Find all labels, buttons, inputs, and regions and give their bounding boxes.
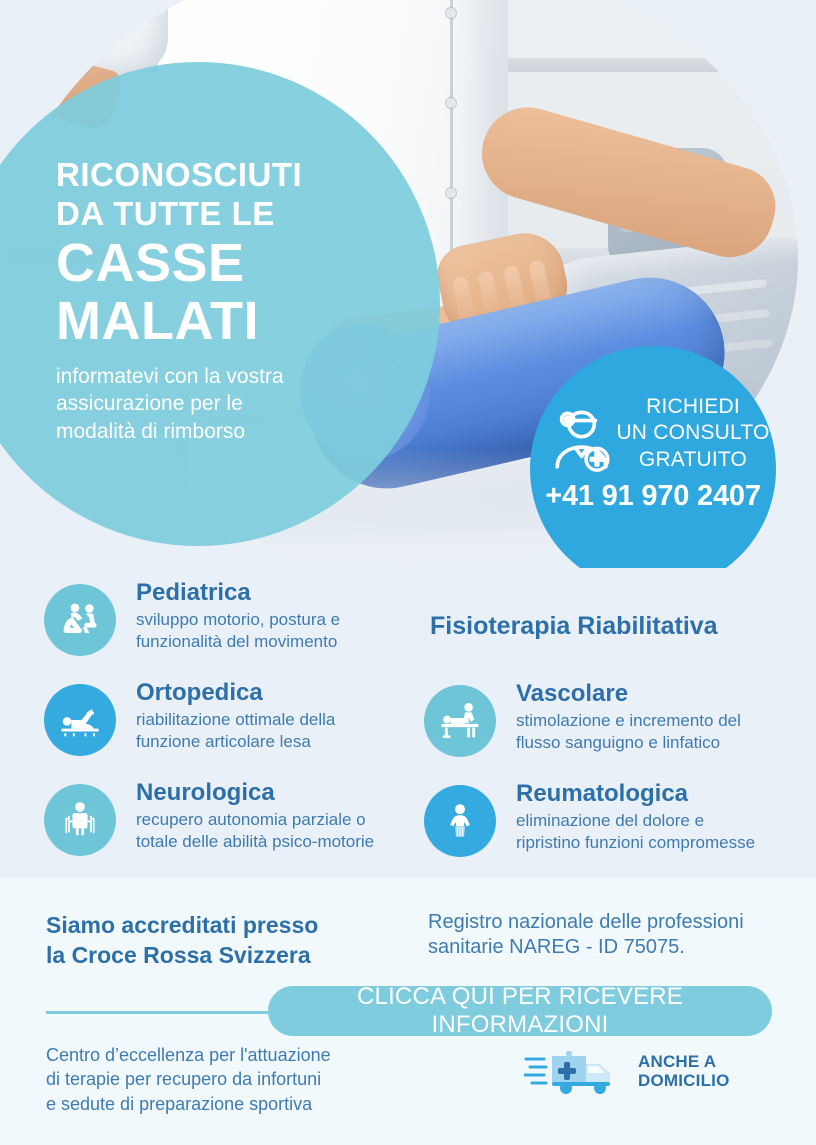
service-desc-line-2: totale delle abilità psico-motorie [136, 831, 414, 852]
service-title: Vascolare [516, 681, 800, 707]
standing-person-glyph [439, 800, 481, 842]
service-title: Neurologica [136, 780, 414, 806]
accreditation-line-2: la Croce Rossa Svizzera [46, 940, 376, 970]
excellence-line-1: Centro d’eccellenza per l'attuazione [46, 1043, 406, 1067]
headline-subtext: informatevi con la vostra assicurazione … [56, 363, 386, 446]
headline-block: RICONOSCIUTI DA TUTTE LE CASSE MALATI in… [56, 156, 386, 446]
headline-subtext-line-1: informatevi con la vostra [56, 363, 386, 391]
excellence-line-2: di terapie per recupero da infortuni [46, 1067, 406, 1091]
standing-person-icon [424, 785, 496, 857]
service-item-vascolare[interactable]: Vascolare stimolazione e incremento del … [424, 681, 800, 777]
consult-phone-number[interactable]: +41 91 970 2407 [530, 480, 776, 513]
service-title: Reumatologica [516, 781, 800, 807]
cta-button[interactable]: CLICCA QUI PER RICEVERE INFORMAZIONI [268, 986, 772, 1036]
headline-line-4: MALATI [56, 292, 386, 350]
service-description: stimolazione e incremento del flusso san… [516, 710, 800, 753]
massage-table-icon [424, 685, 496, 757]
consult-line-1: RICHIEDI [614, 394, 772, 420]
services-left-column: Pediatrica sviluppo motorio, postura e f… [44, 566, 414, 880]
headline-line-3: CASSE [56, 234, 386, 292]
excellence-line-3: e sedute di preparazione sportiva [46, 1092, 406, 1116]
service-item-ortopedica[interactable]: Ortopedica riabilitazione ottimale della… [44, 680, 414, 776]
registry-text: Registro nazionale delle professioni san… [428, 910, 800, 960]
doctor-icon [548, 402, 622, 476]
walker-frame-glyph [58, 798, 102, 842]
services-section: Pediatrica sviluppo motorio, postura e f… [0, 556, 816, 878]
cta-connector-line [46, 1011, 286, 1014]
consult-text: RICHIEDI UN CONSULTO GRATUITO [614, 394, 772, 473]
headline-subtext-line-2: assicurazione per le [56, 390, 386, 418]
home-service-label-line-1: ANCHE A [638, 1052, 730, 1071]
hero-section: RICONOSCIUTI DA TUTTE LE CASSE MALATI in… [0, 0, 816, 568]
patient-lying-icon [44, 684, 116, 756]
service-item-pediatrica[interactable]: Pediatrica sviluppo motorio, postura e f… [44, 580, 414, 676]
poster-root: RICONOSCIUTI DA TUTTE LE CASSE MALATI in… [0, 0, 816, 1145]
services-right-column-title: Fisioterapia Riabilitativa [430, 612, 800, 641]
service-desc-line-1: riabilitazione ottimale della [136, 709, 414, 730]
walker-frame-icon [44, 784, 116, 856]
excellence-text: Centro d’eccellenza per l'attuazione di … [46, 1043, 406, 1116]
service-description: recupero autonomia parziale o totale del… [136, 809, 414, 852]
service-description: sviluppo motorio, postura e funzionalità… [136, 609, 414, 652]
ambulance-icon [524, 1046, 628, 1096]
service-title: Ortopedica [136, 680, 414, 706]
headline-line-2: DA TUTTE LE [56, 195, 386, 234]
registry-line-2: sanitarie NAREG - ID 75075. [428, 935, 800, 960]
home-service-badge: ANCHE A DOMICILIO [524, 1046, 730, 1096]
service-desc-line-1: stimolazione e incremento del [516, 710, 800, 731]
photo-shirt-button [446, 8, 456, 18]
home-service-label-line-2: DOMICILIO [638, 1071, 730, 1090]
service-desc-line-2: funzione articolare lesa [136, 731, 414, 752]
accreditation-line-1: Siamo accreditati presso [46, 910, 376, 940]
services-right-column: Fisioterapia Riabilitativa [424, 566, 800, 881]
service-description: riabilitazione ottimale della funzione a… [136, 709, 414, 752]
service-desc-line-2: funzionalità del movimento [136, 631, 414, 652]
registry-line-1: Registro nazionale delle professioni [428, 910, 800, 935]
service-item-neurologica[interactable]: Neurologica recupero autonomia parziale … [44, 780, 414, 876]
patient-lying-glyph [57, 697, 103, 743]
service-item-reumatologica[interactable]: Reumatologica eliminazione del dolore e … [424, 781, 800, 877]
service-desc-line-1: recupero autonomia parziale o [136, 809, 414, 830]
photo-shirt-button [446, 188, 456, 198]
service-title: Pediatrica [136, 580, 414, 606]
headline-subtext-line-3: modalità di rimborso [56, 418, 386, 446]
pediatric-therapy-glyph [57, 597, 103, 643]
headline-line-1: RICONOSCIUTI [56, 156, 386, 195]
consult-line-2: UN CONSULTO [614, 420, 772, 446]
accreditation-text: Siamo accreditati presso la Croce Rossa … [46, 910, 376, 971]
speed-lines [524, 1059, 546, 1083]
consult-line-3: GRATUITO [614, 447, 772, 473]
photo-shirt-button [446, 98, 456, 108]
pediatric-therapy-icon [44, 584, 116, 656]
service-desc-line-2: ripristino funzioni compromesse [516, 832, 800, 853]
service-description: eliminazione del dolore e ripristino fun… [516, 810, 800, 853]
home-service-label: ANCHE A DOMICILIO [638, 1052, 730, 1090]
service-desc-line-1: sviluppo motorio, postura e [136, 609, 414, 630]
massage-table-glyph [437, 698, 483, 744]
service-desc-line-2: flusso sanguigno e linfatico [516, 732, 800, 753]
service-desc-line-1: eliminazione del dolore e [516, 810, 800, 831]
